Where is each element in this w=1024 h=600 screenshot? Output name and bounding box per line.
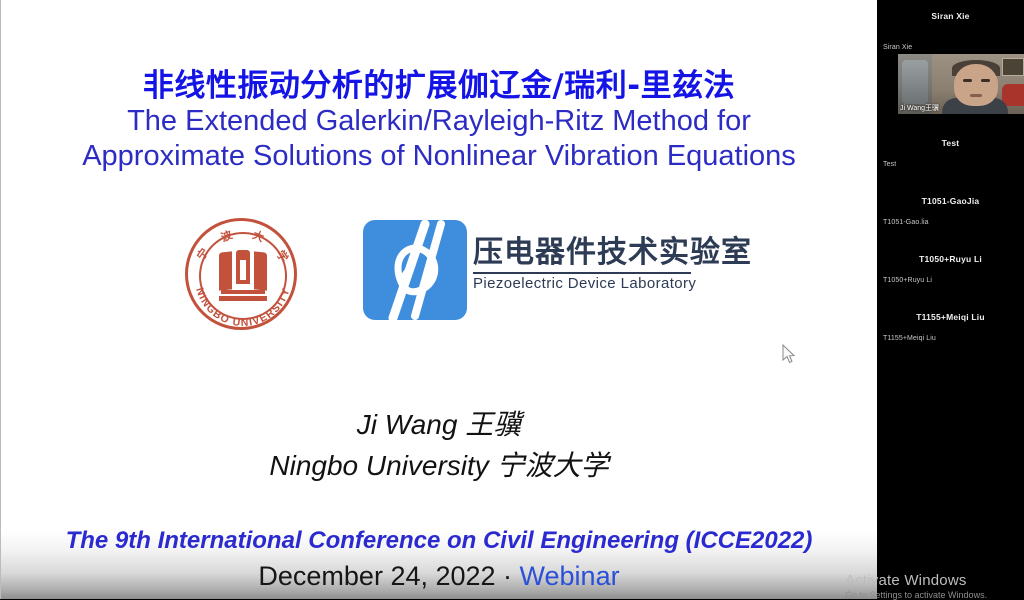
svg-text:NINGBO UNIVERSITY: NINGBO UNIVERSITY — [193, 286, 293, 329]
conference-title: The 9th International Conference on Civi… — [1, 527, 877, 555]
mouse-cursor-icon — [782, 344, 796, 364]
author-block: Ji Wang 王骥 Ningbo University 宁波大学 — [1, 404, 877, 486]
author-affiliation: Ningbo University 宁波大学 — [1, 445, 877, 486]
author-name: Ji Wang 王骥 — [1, 404, 877, 445]
screen-root: 非线性振动分析的扩展伽辽金/瑞利-里兹法 The Extended Galerk… — [0, 0, 1024, 599]
participant-name-center: Siran Xie — [877, 11, 1024, 21]
slide-title-chinese: 非线性振动分析的扩展伽辽金/瑞利-里兹法 — [1, 60, 877, 105]
participant-name-center: Test — [877, 138, 1024, 148]
participants-rail[interactable]: Siran Xie Siran Xie Ji Wang王骥 Test Test … — [877, 0, 1024, 599]
pd-lab-name-english: Piezoelectric Device Laboratory — [473, 275, 693, 292]
slide-title-english-line2: Approximate Solutions of Nonlinear Vibra… — [1, 139, 877, 174]
shared-slide: 非线性振动分析的扩展伽辽金/瑞利-里兹法 The Extended Galerk… — [0, 0, 877, 599]
pd-monogram-icon — [363, 220, 467, 320]
slide-footer: The 9th International Conference on Civi… — [1, 507, 877, 599]
windows-activation-watermark: Activate Windows Go to Settings to activ… — [845, 572, 1024, 600]
participant-name-corner: T1050+Ruyu Li — [883, 277, 932, 284]
participant-name-corner: T1051-Gao.lia — [883, 219, 929, 226]
participant-name-corner: Siran Xie — [883, 44, 912, 51]
participant-name-center: T1051-GaoJia — [877, 196, 1024, 206]
participant-name-center: T1050+Ruyu Li — [877, 254, 1024, 264]
slide-title-english: The Extended Galerkin/Rayleigh-Ritz Meth… — [1, 104, 877, 174]
logo-row: 宁 波 大 学 NINGBO UNIVERSITY — [1, 216, 877, 341]
ningbo-university-logo-icon: 宁 波 大 学 NINGBO UNIVERSITY — [183, 216, 303, 336]
seal-arc-label: NINGBO UNIVERSITY — [193, 286, 293, 329]
seal-arc-text: NINGBO UNIVERSITY — [183, 216, 303, 336]
slide-title-english-line1: The Extended Galerkin/Rayleigh-Ritz Meth… — [1, 104, 877, 139]
participant-tile[interactable]: Siran Xie Siran Xie Ji Wang王骥 — [877, 0, 1024, 130]
participant-tile[interactable]: T1155+Meiqi Liu T1155+Meiqi Liu — [877, 304, 1024, 362]
video-name-overlay: Ji Wang王骥 — [900, 103, 939, 113]
conference-date-line: December 24, 2022 · Webinar — [1, 561, 877, 592]
participant-name-center: T1155+Meiqi Liu — [877, 312, 1024, 322]
participant-video-thumbnail[interactable]: Ji Wang王骥 — [898, 54, 1024, 114]
participant-tile[interactable]: T1050+Ruyu Li T1050+Ruyu Li — [877, 246, 1024, 304]
pd-lab-text: 压电器件技术实验室 Piezoelectric Device Laborator… — [473, 236, 693, 292]
pd-lab-name-chinese: 压电器件技术实验室 — [473, 236, 693, 270]
participant-tile[interactable]: Test Test — [877, 130, 1024, 188]
participant-tile[interactable]: T1051-GaoJia T1051-Gao.lia — [877, 188, 1024, 246]
conference-date: December 24, 2022 · — [258, 561, 519, 591]
watermark-title: Activate Windows — [845, 572, 1024, 589]
pd-divider — [473, 272, 691, 274]
participant-name-corner: T1155+Meiqi Liu — [883, 335, 936, 342]
participant-name-corner: Test — [883, 161, 896, 168]
conference-venue: Webinar — [520, 561, 620, 591]
